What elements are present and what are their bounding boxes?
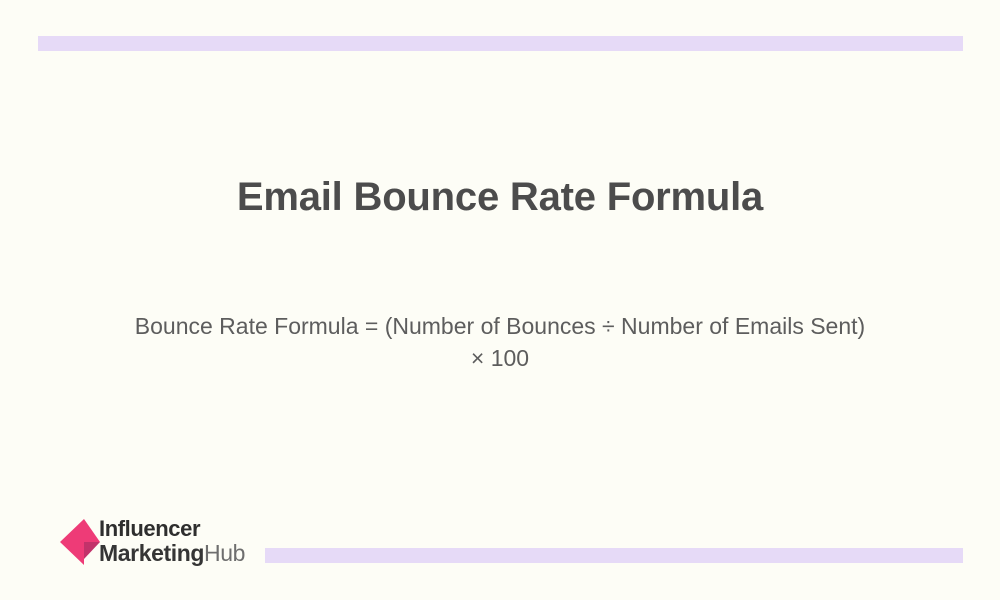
brand-word-hub: Hub	[204, 540, 245, 566]
left-arrow-mark-icon	[60, 519, 104, 565]
brand-logo: Influencer MarketingHub	[60, 514, 245, 568]
brand-line-influencer: Influencer	[99, 518, 245, 540]
brand-word-marketing: Marketing	[99, 540, 204, 566]
formula-text: Bounce Rate Formula = (Number of Bounces…	[130, 311, 870, 374]
brand-wordmark: Influencer MarketingHub	[99, 518, 245, 565]
slide-canvas: Email Bounce Rate Formula Bounce Rate Fo…	[0, 0, 1000, 600]
bottom-accent-bar	[265, 548, 963, 563]
brand-line-marketinghub: MarketingHub	[99, 542, 245, 565]
page-title: Email Bounce Rate Formula	[0, 173, 1000, 221]
top-accent-bar	[38, 36, 963, 51]
